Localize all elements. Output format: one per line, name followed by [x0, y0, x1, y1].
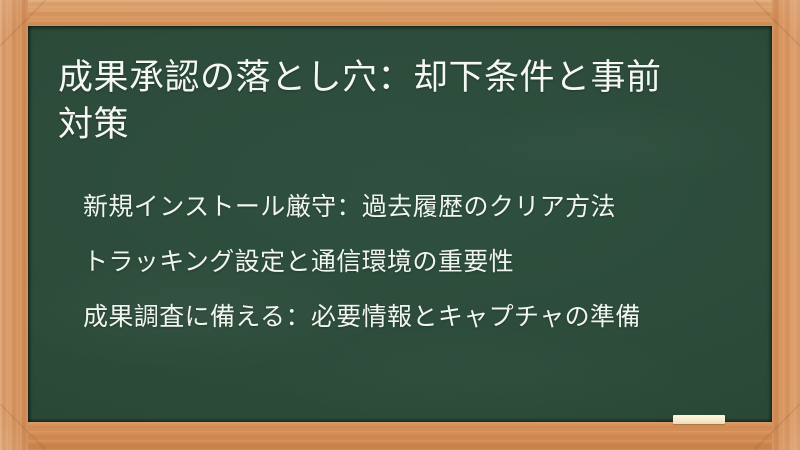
bullet-item-1: 新規インストール厳守：過去履歴のクリア方法 — [83, 180, 763, 235]
chalkboard-surface: 成果承認の落とし穴：却下条件と事前 対策 新規インストール厳守：過去履歴のクリア… — [28, 26, 772, 422]
bullet-item-2: トラッキング設定と通信環境の重要性 — [83, 235, 763, 290]
frame-rail-top — [0, 0, 800, 26]
frame-stile-left — [0, 0, 28, 450]
chalk-stick-icon — [673, 415, 725, 424]
frame-rail-bottom — [0, 422, 800, 450]
title-line-1: 成果承認の落とし穴：却下条件と事前 — [58, 54, 748, 101]
title-line-2: 対策 — [58, 101, 748, 148]
frame-stile-right — [772, 0, 800, 450]
bullet-list: 新規インストール厳守：過去履歴のクリア方法 トラッキング設定と通信環境の重要性 … — [83, 180, 763, 345]
chalkboard-slide: 成果承認の落とし穴：却下条件と事前 対策 新規インストール厳守：過去履歴のクリア… — [0, 0, 800, 450]
bullet-item-3: 成果調査に備える：必要情報とキャプチャの準備 — [83, 290, 763, 345]
slide-title: 成果承認の落とし穴：却下条件と事前 対策 — [58, 54, 748, 148]
